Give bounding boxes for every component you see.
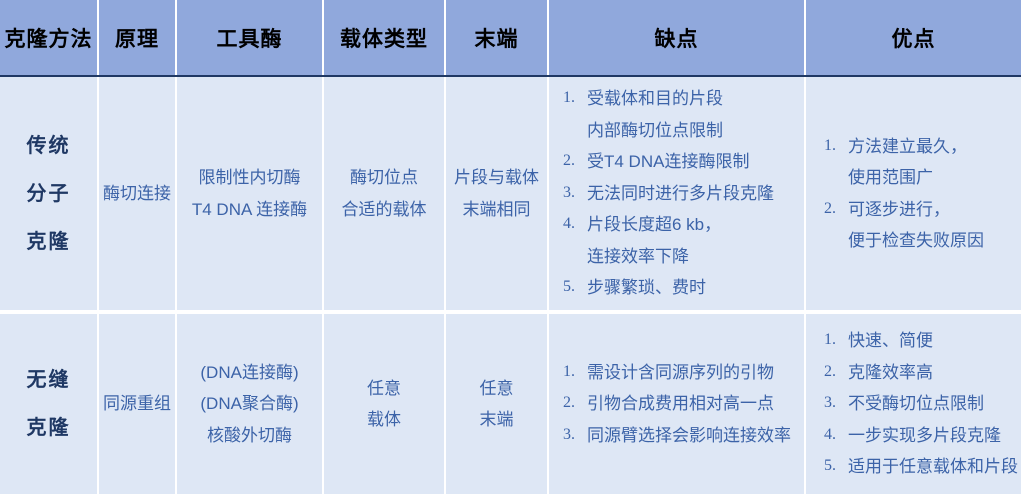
list-item-text: 快速、简便 xyxy=(848,325,1018,356)
cell-line: T4 DNA 连接酶 xyxy=(181,194,318,225)
header-row: 克隆方法 原理 工具酶 载体类型 末端 缺点 优点 xyxy=(0,0,1021,76)
list-item: 2.引物合成费用相对高一点 xyxy=(563,388,791,419)
ordered-list: 1.受载体和目的片段内部酶切位点限制2.受T4 DNA连接酶限制3.无法同时进行… xyxy=(563,83,774,303)
list-item-text: 受载体和目的片段 xyxy=(587,83,774,114)
list-item: 5.适用于任意载体和片段 xyxy=(824,451,1018,482)
list-item-text: 一步实现多片段克隆 xyxy=(848,420,1018,451)
list-item: 2.受T4 DNA连接酶限制 xyxy=(563,146,774,177)
list-item: 2.可逐步进行，便于检查失败原因 xyxy=(824,194,984,257)
list-item-number: 4. xyxy=(563,209,575,239)
cell-line: 分子 xyxy=(4,170,93,218)
comparison-table-container: 克隆方法 原理 工具酶 载体类型 末端 缺点 优点 传统分子克隆 酶切连接 限制… xyxy=(0,0,1021,494)
list-item-number: 2. xyxy=(563,146,575,176)
list-item-number: 5. xyxy=(824,451,836,481)
cell-line: 同源重组 xyxy=(103,388,171,419)
list-item-number: 1. xyxy=(563,357,575,387)
cell-line: 酶切位点 xyxy=(328,162,440,193)
list-item: 1.方法建立最久，使用范围广 xyxy=(824,131,984,194)
list-item-text-cont: 连接效率下降 xyxy=(587,241,774,272)
header-cell-pros: 优点 xyxy=(805,0,1021,76)
list-item-text: 克隆效率高 xyxy=(848,357,1018,388)
cell-principle-traditional: 酶切连接 xyxy=(98,76,176,312)
list-item-text: 步骤繁琐、费时 xyxy=(587,272,774,303)
list-item-number: 2. xyxy=(824,194,836,224)
list-item: 4.一步实现多片段克隆 xyxy=(824,420,1018,451)
table-body: 传统分子克隆 酶切连接 限制性内切酶T4 DNA 连接酶 酶切位点合适的载体 片… xyxy=(0,76,1021,494)
cell-vector-type-seamless: 任意载体 xyxy=(323,312,445,494)
list-item-text: 适用于任意载体和片段 xyxy=(848,451,1018,482)
list-item-text: 同源臂选择会影响连接效率 xyxy=(587,420,791,451)
list-item-number: 3. xyxy=(563,420,575,450)
cloning-method-comparison-table: 克隆方法 原理 工具酶 载体类型 末端 缺点 优点 传统分子克隆 酶切连接 限制… xyxy=(0,0,1021,494)
cell-enzyme-traditional: 限制性内切酶T4 DNA 连接酶 xyxy=(176,76,323,312)
list-item-text: 需设计含同源序列的引物 xyxy=(587,357,791,388)
list-item: 3.无法同时进行多片段克隆 xyxy=(563,178,774,209)
cell-vector-type-traditional: 酶切位点合适的载体 xyxy=(323,76,445,312)
table-row: 传统分子克隆 酶切连接 限制性内切酶T4 DNA 连接酶 酶切位点合适的载体 片… xyxy=(0,76,1021,312)
cell-line: (DNA聚合酶) xyxy=(181,388,318,419)
cell-line: 酶切连接 xyxy=(103,178,171,209)
list-item-number: 4. xyxy=(824,420,836,450)
header-cell-method: 克隆方法 xyxy=(0,0,98,76)
cell-line: 末端相同 xyxy=(450,194,543,225)
list-item: 1.受载体和目的片段内部酶切位点限制 xyxy=(563,83,774,146)
cell-pros-traditional: 1.方法建立最久，使用范围广2.可逐步进行，便于检查失败原因 xyxy=(805,76,1021,312)
list-item-number: 3. xyxy=(824,388,836,418)
list-item-text: 可逐步进行， xyxy=(848,194,984,225)
cell-line: 克隆 xyxy=(4,218,93,266)
list-item: 2.克隆效率高 xyxy=(824,357,1018,388)
cell-line: 克隆 xyxy=(4,404,93,452)
list-item-text-cont: 内部酶切位点限制 xyxy=(587,115,774,146)
cell-line: (DNA连接酶) xyxy=(181,357,318,388)
list-item: 4.片段长度超6 kb，连接效率下降 xyxy=(563,209,774,272)
cell-line: 片段与载体 xyxy=(450,162,543,193)
cell-ends-seamless: 任意末端 xyxy=(445,312,548,494)
cell-cons-seamless: 1.需设计含同源序列的引物2.引物合成费用相对高一点3.同源臂选择会影响连接效率 xyxy=(548,312,805,494)
list-item-text: 片段长度超6 kb， xyxy=(587,209,774,240)
cell-principle-seamless: 同源重组 xyxy=(98,312,176,494)
list-item: 1.需设计含同源序列的引物 xyxy=(563,357,791,388)
cell-line: 限制性内切酶 xyxy=(181,162,318,193)
cell-line: 合适的载体 xyxy=(328,194,440,225)
list-item-text: 无法同时进行多片段克隆 xyxy=(587,178,774,209)
list-item-text-cont: 使用范围广 xyxy=(848,162,984,193)
list-item-text: 方法建立最久， xyxy=(848,131,984,162)
header-cell-enzyme: 工具酶 xyxy=(176,0,323,76)
list-item-number: 3. xyxy=(563,178,575,208)
list-item-text: 受T4 DNA连接酶限制 xyxy=(587,146,774,177)
list-item-number: 1. xyxy=(563,83,575,113)
ordered-list: 1.快速、简便2.克隆效率高3.不受酶切位点限制4.一步实现多片段克隆5.适用于… xyxy=(824,325,1018,482)
list-item-text: 引物合成费用相对高一点 xyxy=(587,388,791,419)
list-item-text: 不受酶切位点限制 xyxy=(848,388,1018,419)
cell-line: 末端 xyxy=(450,404,543,435)
list-item-number: 1. xyxy=(824,325,836,355)
cell-pros-seamless: 1.快速、简便2.克隆效率高3.不受酶切位点限制4.一步实现多片段克隆5.适用于… xyxy=(805,312,1021,494)
cell-line: 核酸外切酶 xyxy=(181,420,318,451)
list-item-number: 2. xyxy=(563,388,575,418)
cell-enzyme-seamless: (DNA连接酶)(DNA聚合酶)核酸外切酶 xyxy=(176,312,323,494)
cell-line: 传统 xyxy=(4,122,93,170)
list-item: 3.不受酶切位点限制 xyxy=(824,388,1018,419)
ordered-list: 1.需设计含同源序列的引物2.引物合成费用相对高一点3.同源臂选择会影响连接效率 xyxy=(563,357,791,451)
list-item-number: 2. xyxy=(824,357,836,387)
header-cell-vector-type: 载体类型 xyxy=(323,0,445,76)
cell-ends-traditional: 片段与载体末端相同 xyxy=(445,76,548,312)
list-item: 3.同源臂选择会影响连接效率 xyxy=(563,420,791,451)
cell-line: 无缝 xyxy=(4,356,93,404)
list-item-text-cont: 便于检查失败原因 xyxy=(848,225,984,256)
ordered-list: 1.方法建立最久，使用范围广2.可逐步进行，便于检查失败原因 xyxy=(824,131,984,257)
header-cell-principle: 原理 xyxy=(98,0,176,76)
list-item-number: 5. xyxy=(563,272,575,302)
list-item: 5.步骤繁琐、费时 xyxy=(563,272,774,303)
cell-line: 任意 xyxy=(450,373,543,404)
cell-line: 载体 xyxy=(328,404,440,435)
cell-method-seamless: 无缝克隆 xyxy=(0,312,98,494)
list-item: 1.快速、简便 xyxy=(824,325,1018,356)
cell-method-traditional: 传统分子克隆 xyxy=(0,76,98,312)
cell-cons-traditional: 1.受载体和目的片段内部酶切位点限制2.受T4 DNA连接酶限制3.无法同时进行… xyxy=(548,76,805,312)
cell-line: 任意 xyxy=(328,373,440,404)
table-header: 克隆方法 原理 工具酶 载体类型 末端 缺点 优点 xyxy=(0,0,1021,76)
header-cell-cons: 缺点 xyxy=(548,0,805,76)
table-row: 无缝克隆 同源重组 (DNA连接酶)(DNA聚合酶)核酸外切酶 任意载体 任意末… xyxy=(0,312,1021,494)
header-cell-ends: 末端 xyxy=(445,0,548,76)
list-item-number: 1. xyxy=(824,131,836,161)
